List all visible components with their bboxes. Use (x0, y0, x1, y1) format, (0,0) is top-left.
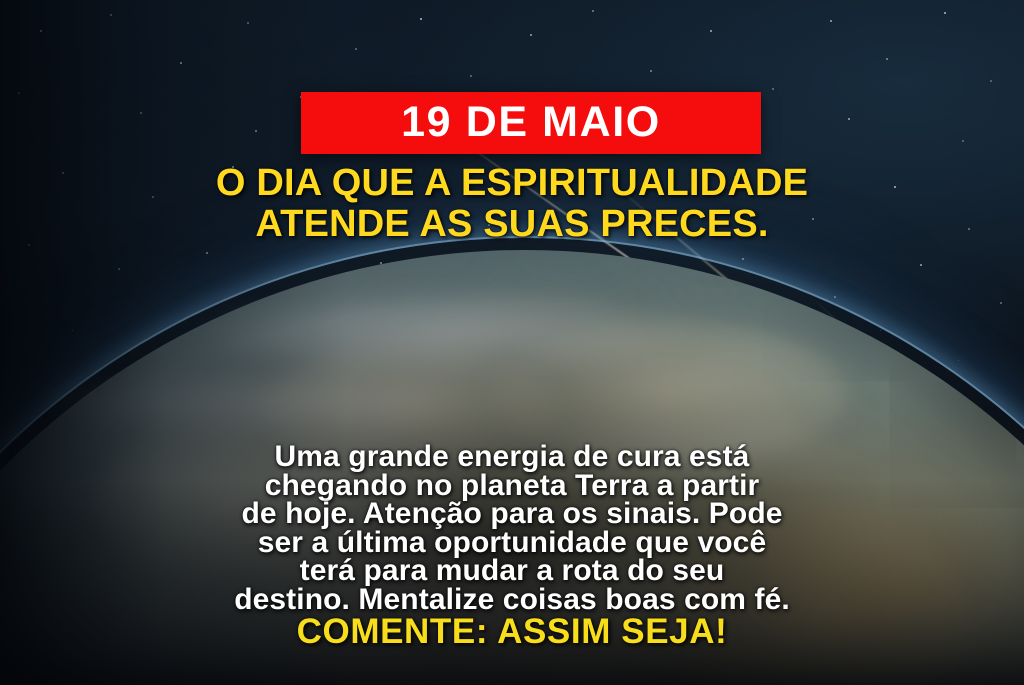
body-line-1: Uma grande energia de cura está (0, 443, 1024, 472)
headline: O DIA QUE A ESPIRITUALIDADE ATENDE AS SU… (0, 163, 1024, 245)
body-line-2: chegando no planeta Terra a partir (0, 472, 1024, 501)
poster-image: 19 DE MAIO O DIA QUE A ESPIRITUALIDADE A… (0, 0, 1024, 685)
date-banner-label: 19 DE MAIO (401, 101, 661, 144)
date-banner: 19 DE MAIO (301, 92, 761, 154)
body-line-3: de hoje. Atenção para os sinais. Pode (0, 500, 1024, 529)
headline-line-2: ATENDE AS SUAS PRECES. (0, 204, 1024, 245)
poster-content: 19 DE MAIO O DIA QUE A ESPIRITUALIDADE A… (0, 0, 1024, 685)
body-line-5: terá para mudar a rota do seu (0, 557, 1024, 586)
body-paragraph: Uma grande energia de cura está chegando… (0, 443, 1024, 614)
body-line-4: ser a última oportunidade que você (0, 529, 1024, 558)
body-line-6: destino. Mentalize coisas boas com fé. (0, 586, 1024, 615)
headline-line-1: O DIA QUE A ESPIRITUALIDADE (0, 163, 1024, 204)
call-to-action-text: COMENTE: ASSIM SEJA! (0, 614, 1024, 649)
